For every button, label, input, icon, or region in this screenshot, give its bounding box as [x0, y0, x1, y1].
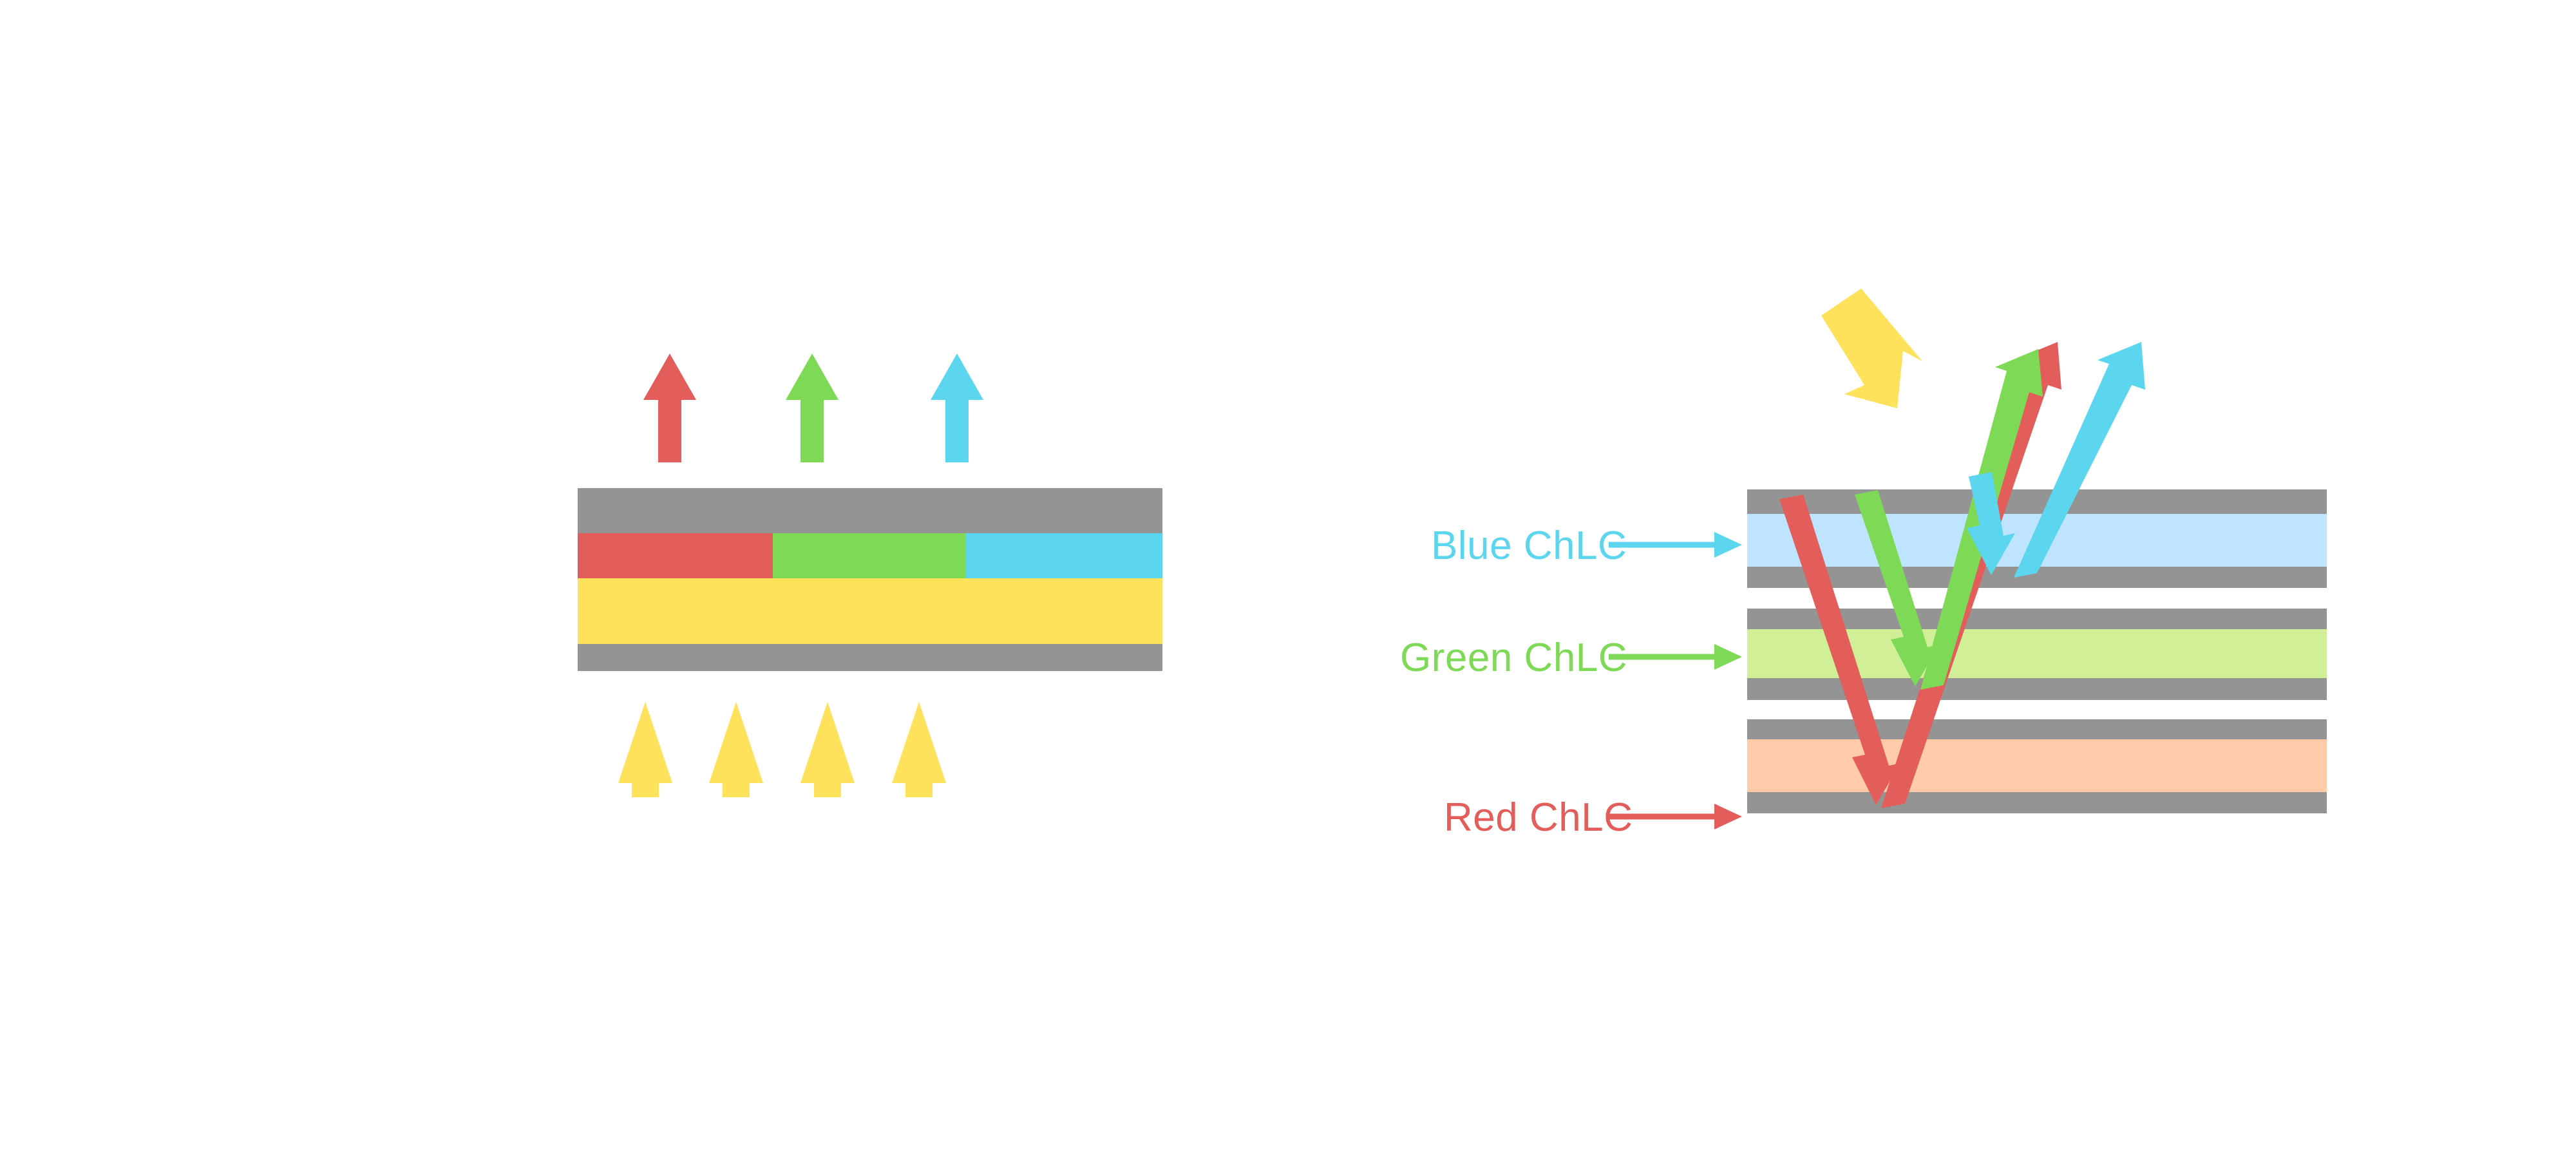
green-label-pointer-icon	[1609, 644, 1742, 670]
blue-cell-top-electrode	[1747, 489, 2327, 514]
backlight-arrow-1	[618, 702, 672, 797]
left-backlight-layer	[578, 578, 1162, 644]
left-color-filter-green	[773, 533, 966, 578]
emitted-green-arrow	[786, 354, 838, 462]
blue-chlc-label: Blue ChLC	[1431, 523, 1627, 569]
left-panel-group	[578, 354, 1162, 797]
left-color-filter-cyan	[966, 533, 1162, 578]
green-cell-bottom-electrode	[1747, 678, 2327, 700]
red-cell-bottom-electrode	[1747, 792, 2327, 813]
red-chlc-label: Red ChLC	[1444, 795, 1633, 840]
backlight-arrow-4	[892, 702, 946, 797]
left-bottom-electrode	[578, 644, 1162, 671]
ambient-light-arrow	[1821, 288, 1922, 408]
backlight-arrow-3	[800, 702, 855, 797]
red-cell-top-electrode	[1747, 719, 2327, 739]
emitted-red-arrow	[643, 354, 696, 462]
green-chlc-label: Green ChLC	[1400, 635, 1627, 681]
backlight-arrow-2	[709, 702, 763, 797]
diagram-canvas: Blue ChLC Green ChLC Red ChLC	[0, 0, 2576, 1154]
diagram-vector-layer	[0, 0, 2576, 1154]
left-color-filter-red	[578, 533, 773, 578]
left-top-electrode	[578, 488, 1162, 533]
red-chlc-layer	[1747, 739, 2327, 792]
right-panel-group	[1609, 288, 2327, 829]
blue-label-pointer-icon	[1609, 532, 1742, 558]
emitted-cyan-arrow	[931, 354, 983, 462]
